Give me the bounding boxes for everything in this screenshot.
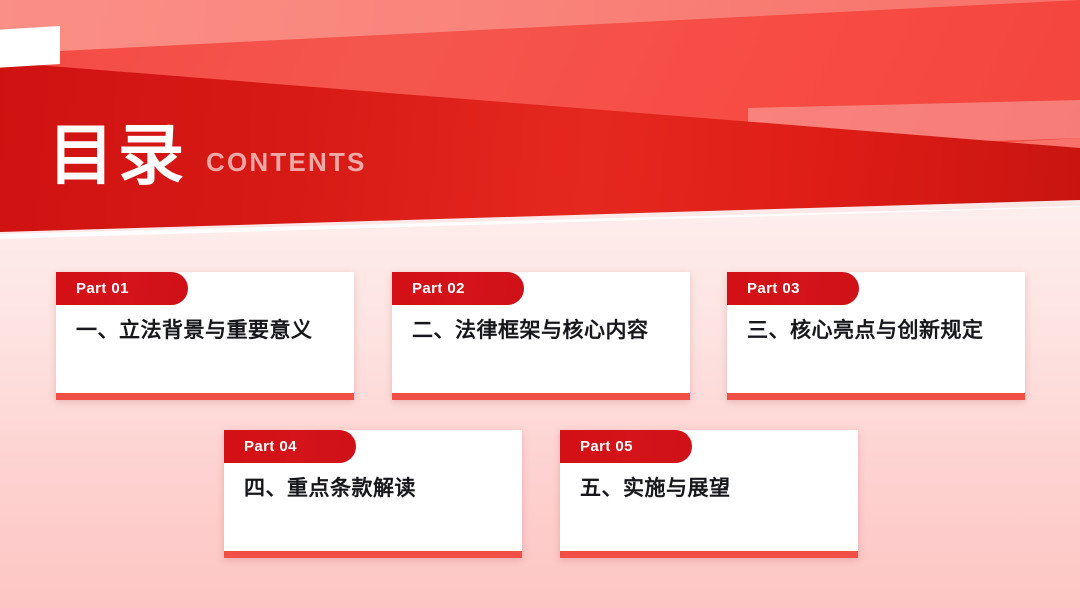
card-title: 二、法律框架与核心内容 (412, 317, 678, 344)
slide-canvas: 目录 CONTENTS Part 01 一、立法背景与重要意义 Part 02 … (0, 0, 1080, 608)
card-badge: Part 02 (392, 272, 524, 305)
card-underline (56, 393, 354, 400)
corner-notch-shape (0, 26, 60, 68)
card-badge: Part 01 (56, 272, 188, 305)
card-underline (560, 551, 858, 558)
card-underline (224, 551, 522, 558)
toc-card[interactable]: Part 03 三、核心亮点与创新规定 (727, 272, 1025, 400)
card-badge-label: Part 04 (244, 438, 297, 455)
card-title: 一、立法背景与重要意义 (76, 317, 342, 344)
card-badge: Part 04 (224, 430, 356, 463)
card-badge: Part 05 (560, 430, 692, 463)
card-underline (727, 393, 1025, 400)
toc-card[interactable]: Part 05 五、实施与展望 (560, 430, 858, 558)
title-chinese: 目录 (48, 124, 188, 187)
card-title: 四、重点条款解读 (244, 475, 510, 502)
page-title: 目录 CONTENTS (48, 124, 367, 187)
card-badge-label: Part 01 (76, 280, 129, 297)
card-badge-label: Part 03 (747, 280, 800, 297)
card-underline (392, 393, 690, 400)
card-title: 五、实施与展望 (580, 475, 846, 502)
toc-card[interactable]: Part 01 一、立法背景与重要意义 (56, 272, 354, 400)
card-badge-label: Part 05 (580, 438, 633, 455)
card-title: 三、核心亮点与创新规定 (747, 317, 1013, 344)
card-badge-label: Part 02 (412, 280, 465, 297)
card-badge: Part 03 (727, 272, 859, 305)
title-english: CONTENTS (206, 147, 367, 187)
toc-card[interactable]: Part 02 二、法律框架与核心内容 (392, 272, 690, 400)
toc-card[interactable]: Part 04 四、重点条款解读 (224, 430, 522, 558)
